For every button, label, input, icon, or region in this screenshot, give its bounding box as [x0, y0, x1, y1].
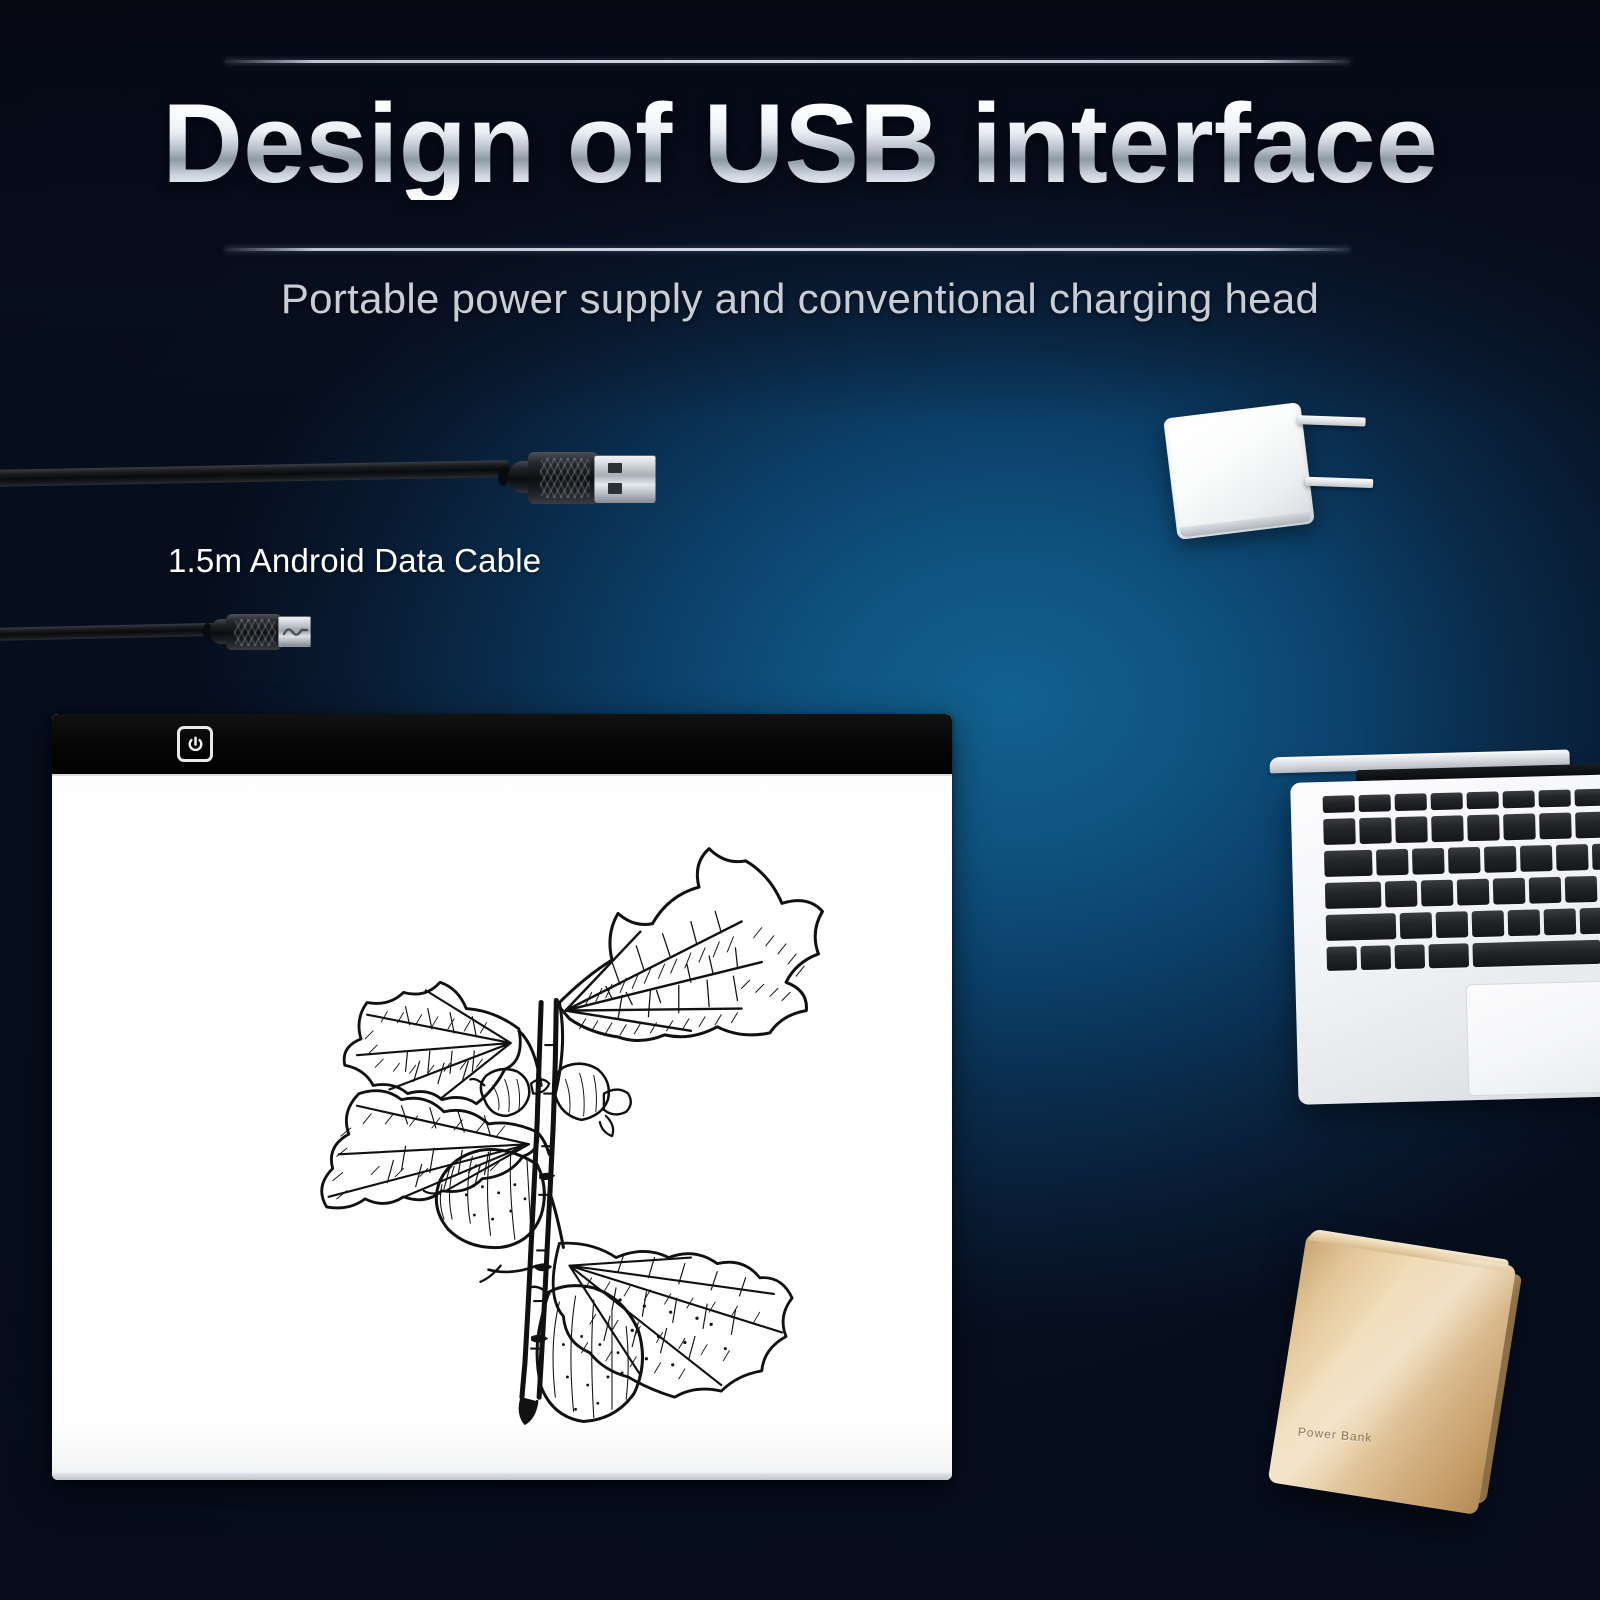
usb-a-grip-texture	[540, 458, 590, 498]
usb-a-pin-top	[608, 463, 622, 473]
key[interactable]	[1448, 847, 1481, 874]
key[interactable]	[1466, 791, 1498, 809]
fig-branch-engraving	[160, 790, 898, 1438]
usb-a-pin-bottom	[608, 483, 622, 494]
key[interactable]	[1385, 881, 1418, 908]
key[interactable]	[1412, 848, 1445, 875]
page-title: Design of USB interface	[0, 88, 1600, 200]
key[interactable]	[1376, 849, 1409, 876]
divider-top	[225, 60, 1350, 63]
key[interactable]	[1431, 792, 1463, 810]
key[interactable]	[1592, 843, 1600, 870]
key[interactable]	[1556, 844, 1589, 871]
key[interactable]	[1520, 845, 1553, 872]
key-control[interactable]	[1360, 945, 1391, 970]
light-pad-bezel	[52, 714, 952, 774]
key[interactable]	[1431, 815, 1464, 842]
key[interactable]	[1503, 813, 1536, 840]
key[interactable]	[1539, 813, 1572, 840]
usb-a-metal-shell	[594, 455, 656, 503]
key[interactable]	[1323, 818, 1356, 845]
key[interactable]	[1421, 880, 1454, 907]
key[interactable]	[1436, 911, 1469, 938]
key[interactable]	[1580, 907, 1600, 934]
key[interactable]	[1574, 789, 1600, 807]
laptop-keyboard[interactable]	[1323, 786, 1600, 960]
key[interactable]	[1400, 912, 1433, 939]
keyboard-row-qwerty	[1324, 841, 1600, 877]
keyboard-row-home	[1325, 873, 1600, 909]
power-bank: Power Bank	[1268, 1233, 1517, 1515]
light-pad-surface	[52, 774, 952, 1480]
key[interactable]	[1508, 909, 1541, 936]
keyboard-row-bottom-letters	[1326, 905, 1600, 941]
usb-wall-charger	[1163, 402, 1315, 540]
key[interactable]	[1502, 790, 1534, 808]
charger-body	[1163, 402, 1315, 540]
key[interactable]	[1484, 846, 1517, 873]
background-top-shade	[0, 0, 1600, 420]
micro-usb-grip-texture	[234, 619, 276, 646]
key[interactable]	[1467, 814, 1500, 841]
product-banner: Design of USB interface Portable power s…	[0, 0, 1600, 1600]
led-light-pad[interactable]	[52, 714, 952, 1480]
key-capslock[interactable]	[1325, 882, 1382, 909]
key[interactable]	[1565, 876, 1598, 903]
key-command[interactable]	[1428, 943, 1469, 968]
cable-length-label: 1.5m Android Data Cable	[168, 542, 541, 580]
key-shift[interactable]	[1326, 913, 1397, 941]
key[interactable]	[1575, 812, 1600, 839]
laptop-trackpad[interactable]	[1466, 980, 1600, 1096]
page-subtitle: Portable power supply and conventional c…	[0, 275, 1600, 323]
key[interactable]	[1544, 908, 1577, 935]
power-button[interactable]	[177, 726, 213, 762]
key[interactable]	[1457, 879, 1490, 906]
key[interactable]	[1395, 816, 1428, 843]
micro-usb-metal-shell	[278, 616, 311, 647]
key-fn[interactable]	[1326, 946, 1357, 971]
key-option[interactable]	[1394, 944, 1425, 969]
power-bank-sheen	[1268, 1233, 1517, 1515]
key[interactable]	[1359, 817, 1392, 844]
key[interactable]	[1472, 910, 1505, 937]
key-tab[interactable]	[1324, 850, 1373, 877]
fig-branch-artwork	[160, 790, 898, 1438]
key[interactable]	[1359, 794, 1391, 812]
key[interactable]	[1529, 877, 1562, 904]
key[interactable]	[1395, 793, 1427, 811]
micro-usb-icon	[279, 617, 312, 648]
key-space[interactable]	[1472, 940, 1600, 967]
power-icon	[186, 735, 205, 754]
key[interactable]	[1493, 878, 1526, 905]
key[interactable]	[1323, 795, 1355, 813]
key[interactable]	[1538, 790, 1570, 808]
keyboard-row-number	[1323, 809, 1600, 845]
laptop	[1264, 747, 1600, 1106]
divider-bottom	[225, 248, 1350, 251]
